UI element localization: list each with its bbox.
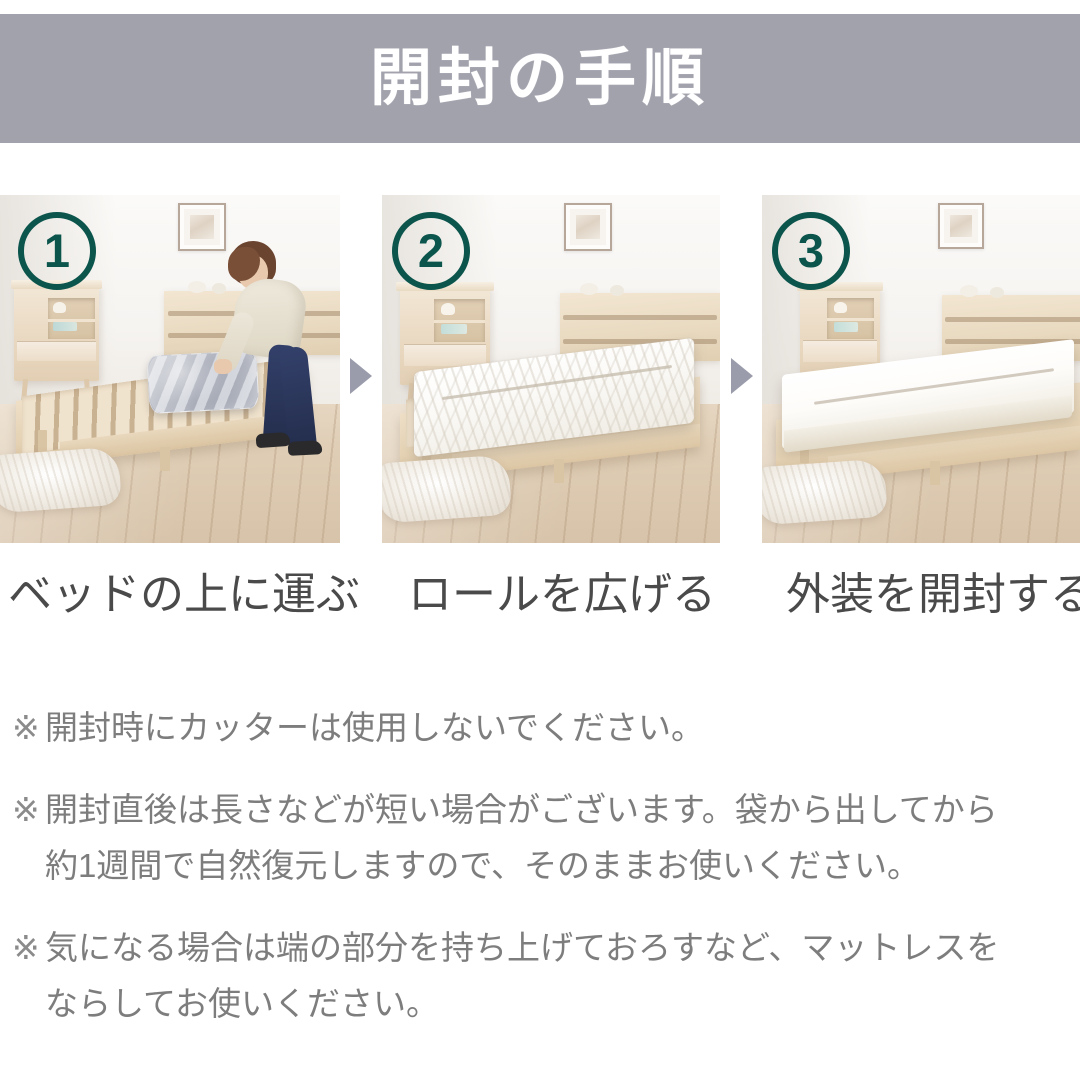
- shelf-object-ceramic: [441, 303, 455, 315]
- wall-picture-frame: [938, 203, 984, 249]
- headboard-ornament-2: [610, 285, 624, 296]
- floor-rug: [0, 447, 122, 514]
- rug-texture: [762, 459, 888, 526]
- step-caption-1: ベッドの上に運ぶ: [8, 560, 360, 630]
- shelf-object-ceramic: [834, 302, 847, 313]
- step-arrow-1-to-2-icon: [350, 358, 372, 394]
- headboard-slat-1: [563, 315, 717, 320]
- note-item-2: ※ 開封直後は長さなどが短い場合がございます。袋から出してから 約1週間で自然復…: [0, 782, 1080, 894]
- floor-rug: [762, 459, 888, 526]
- step-arrow-2-to-3-icon: [731, 358, 753, 394]
- headboard-slat-1: [945, 317, 1080, 322]
- person-shoe-back: [256, 432, 291, 448]
- cabinet-drawer: [404, 344, 487, 367]
- note-mark-icon: ※: [0, 782, 45, 838]
- cabinet-shelf-divider: [434, 320, 485, 323]
- bed-leg-left: [38, 430, 47, 452]
- person-hand: [214, 359, 232, 374]
- frame-artwork: [576, 215, 600, 239]
- step-badge-2: 2: [392, 212, 470, 290]
- bed-leg-front: [160, 447, 170, 471]
- step-badge-3: 3: [772, 212, 850, 290]
- step-caption-3: 外装を開封する: [786, 560, 1080, 630]
- note-mark-icon: ※: [0, 700, 45, 756]
- note-item-3: ※ 気になる場合は端の部分を持ち上げておろすなど、マットレスを ならしてお使いく…: [0, 920, 1080, 1032]
- note-text-3: 気になる場合は端の部分を持ち上げておろすなど、マットレスを ならしてお使いくださ…: [45, 920, 1080, 1032]
- rug-texture: [0, 447, 122, 514]
- notes-list: ※ 開封時にカッターは使用しないでください。 ※ 開封直後は長さなどが短い場合が…: [0, 700, 1080, 1058]
- cabinet-shelf-divider: [48, 319, 95, 322]
- headboard-ornament: [580, 283, 598, 295]
- page-title: 開封の手順: [370, 48, 710, 110]
- cabinet-drawer: [803, 340, 877, 361]
- step-badge-1: 1: [18, 212, 96, 290]
- left-cabinet: [14, 285, 99, 381]
- step-badge-2-number: 2: [418, 227, 444, 274]
- cabinet-shelf-divider: [827, 318, 873, 321]
- step-badge-1-number: 1: [44, 227, 70, 274]
- headboard-ornament: [188, 281, 206, 293]
- unpacking-instructions-page: 開封の手順: [0, 0, 1080, 1080]
- bed-leg-front: [554, 459, 564, 483]
- page-header-banner: 開封の手順: [0, 14, 1080, 143]
- shelf-object-books: [53, 322, 77, 331]
- cabinet-drawer: [17, 341, 95, 361]
- steps-image-row: [0, 195, 1080, 545]
- note-text-2: 開封直後は長さなどが短い場合がございます。袋から出してから 約1週間で自然復元し…: [45, 782, 1080, 894]
- shelf-object-ceramic: [53, 302, 66, 313]
- frame-artwork: [950, 215, 972, 237]
- step-captions-row: ベッドの上に運ぶ ロールを広げる 外装を開封する: [0, 560, 1080, 630]
- note-mark-icon: ※: [0, 920, 45, 976]
- wall-picture-frame: [564, 203, 612, 251]
- rug-texture: [382, 454, 512, 523]
- note-item-1: ※ 開封時にカッターは使用しないでください。: [0, 700, 1080, 756]
- person-shoe-front: [288, 440, 323, 456]
- note-text-1: 開封時にカッターは使用しないでください。: [45, 700, 1080, 756]
- step-badge-3-number: 3: [798, 227, 824, 274]
- step-caption-2: ロールを広げる: [408, 560, 716, 630]
- person-carrying-mattress: [208, 235, 328, 465]
- headboard-ornament-2: [990, 287, 1004, 298]
- headboard-ornament: [960, 285, 978, 297]
- bed-leg-front: [930, 461, 940, 485]
- shelf-object-books: [834, 322, 858, 332]
- floor-rug: [382, 454, 512, 523]
- shelf-object-books: [441, 324, 467, 334]
